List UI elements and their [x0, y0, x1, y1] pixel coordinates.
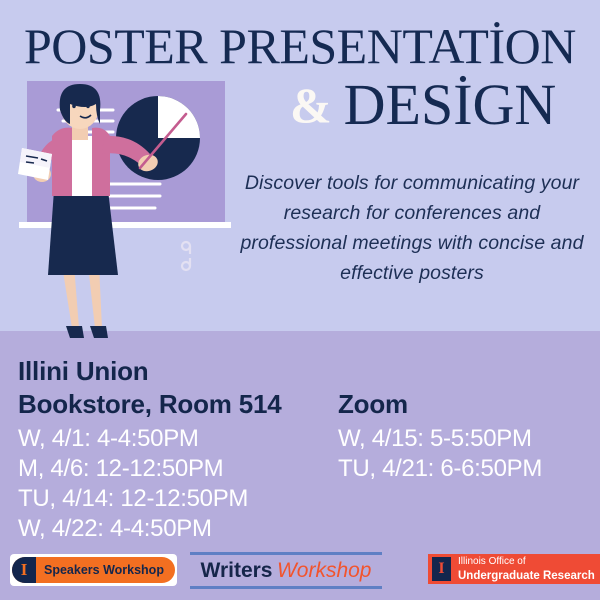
logo-undergraduate-research: I Illinois Office of Undergraduate Resea…: [428, 554, 600, 584]
whiteboard-ledge: [19, 222, 231, 228]
session-item: W, 4/1: 4-4:50PM: [18, 424, 338, 454]
poster-title-line1: POSTER PRESENTATİON: [24, 19, 584, 73]
speakers-workshop-label: Speakers Workshop: [36, 563, 175, 577]
workshop-word: Workshop: [277, 559, 372, 582]
logo-speakers-workshop: I Speakers Workshop: [10, 554, 177, 586]
figure-skirt: [48, 190, 118, 275]
session-item: W, 4/22: 4-4:50PM: [18, 514, 338, 544]
poster-title-line2: DESİGN: [344, 72, 557, 137]
figure-cardigan: [52, 128, 72, 196]
writers-word: Writers: [201, 559, 273, 582]
zoom-session-list: W, 4/15: 5-5:50PM TU, 4/21: 6-6:50PM: [338, 424, 598, 484]
poster-canvas: POSTER PRESENTATİON &DESİGN Discover too…: [0, 0, 600, 600]
ampersand-glyph: &: [290, 77, 332, 133]
session-item: M, 4/6: 12-12:50PM: [18, 454, 338, 484]
zoom-heading: Zoom: [338, 388, 598, 421]
schedule-column-venue: Illini Union Bookstore, Room 514 W, 4/1:…: [18, 355, 338, 544]
figure-shoes: [66, 326, 108, 338]
footer-logo-bar: I Speakers Workshop Writers Workshop I I…: [0, 550, 600, 595]
speakers-workshop-pill: I Speakers Workshop: [12, 557, 175, 583]
chart-caption-glyphs: [182, 242, 190, 270]
iour-line2: Undergraduate Research: [458, 570, 595, 582]
session-item: W, 4/15: 5-5:50PM: [338, 424, 598, 454]
venue-heading-line2: Bookstore, Room 514: [18, 388, 338, 421]
pie-chart: [116, 96, 200, 180]
venue-heading-line1: Illini Union: [18, 355, 338, 388]
venue-session-list: W, 4/1: 4-4:50PM M, 4/6: 12-12:50PM TU, …: [18, 424, 338, 544]
undergraduate-research-text: Illinois Office of Undergraduate Researc…: [458, 556, 595, 582]
schedule-column-zoom: Zoom W, 4/15: 5-5:50PM TU, 4/21: 6-6:50P…: [338, 388, 598, 484]
illinois-i-icon: I: [12, 557, 36, 583]
presenter-illustration: [0, 70, 240, 360]
illinois-i-icon: I: [432, 557, 451, 581]
session-item: TU, 4/21: 6-6:50PM: [338, 454, 598, 484]
poster-title-line2-wrap: &DESİGN: [290, 74, 556, 136]
iour-line1: Illinois Office of: [458, 556, 595, 568]
session-item: TU, 4/14: 12-12:50PM: [18, 484, 338, 514]
logo-writers-workshop: Writers Workshop: [190, 552, 382, 589]
poster-description: Discover tools for communicating your re…: [228, 168, 596, 288]
